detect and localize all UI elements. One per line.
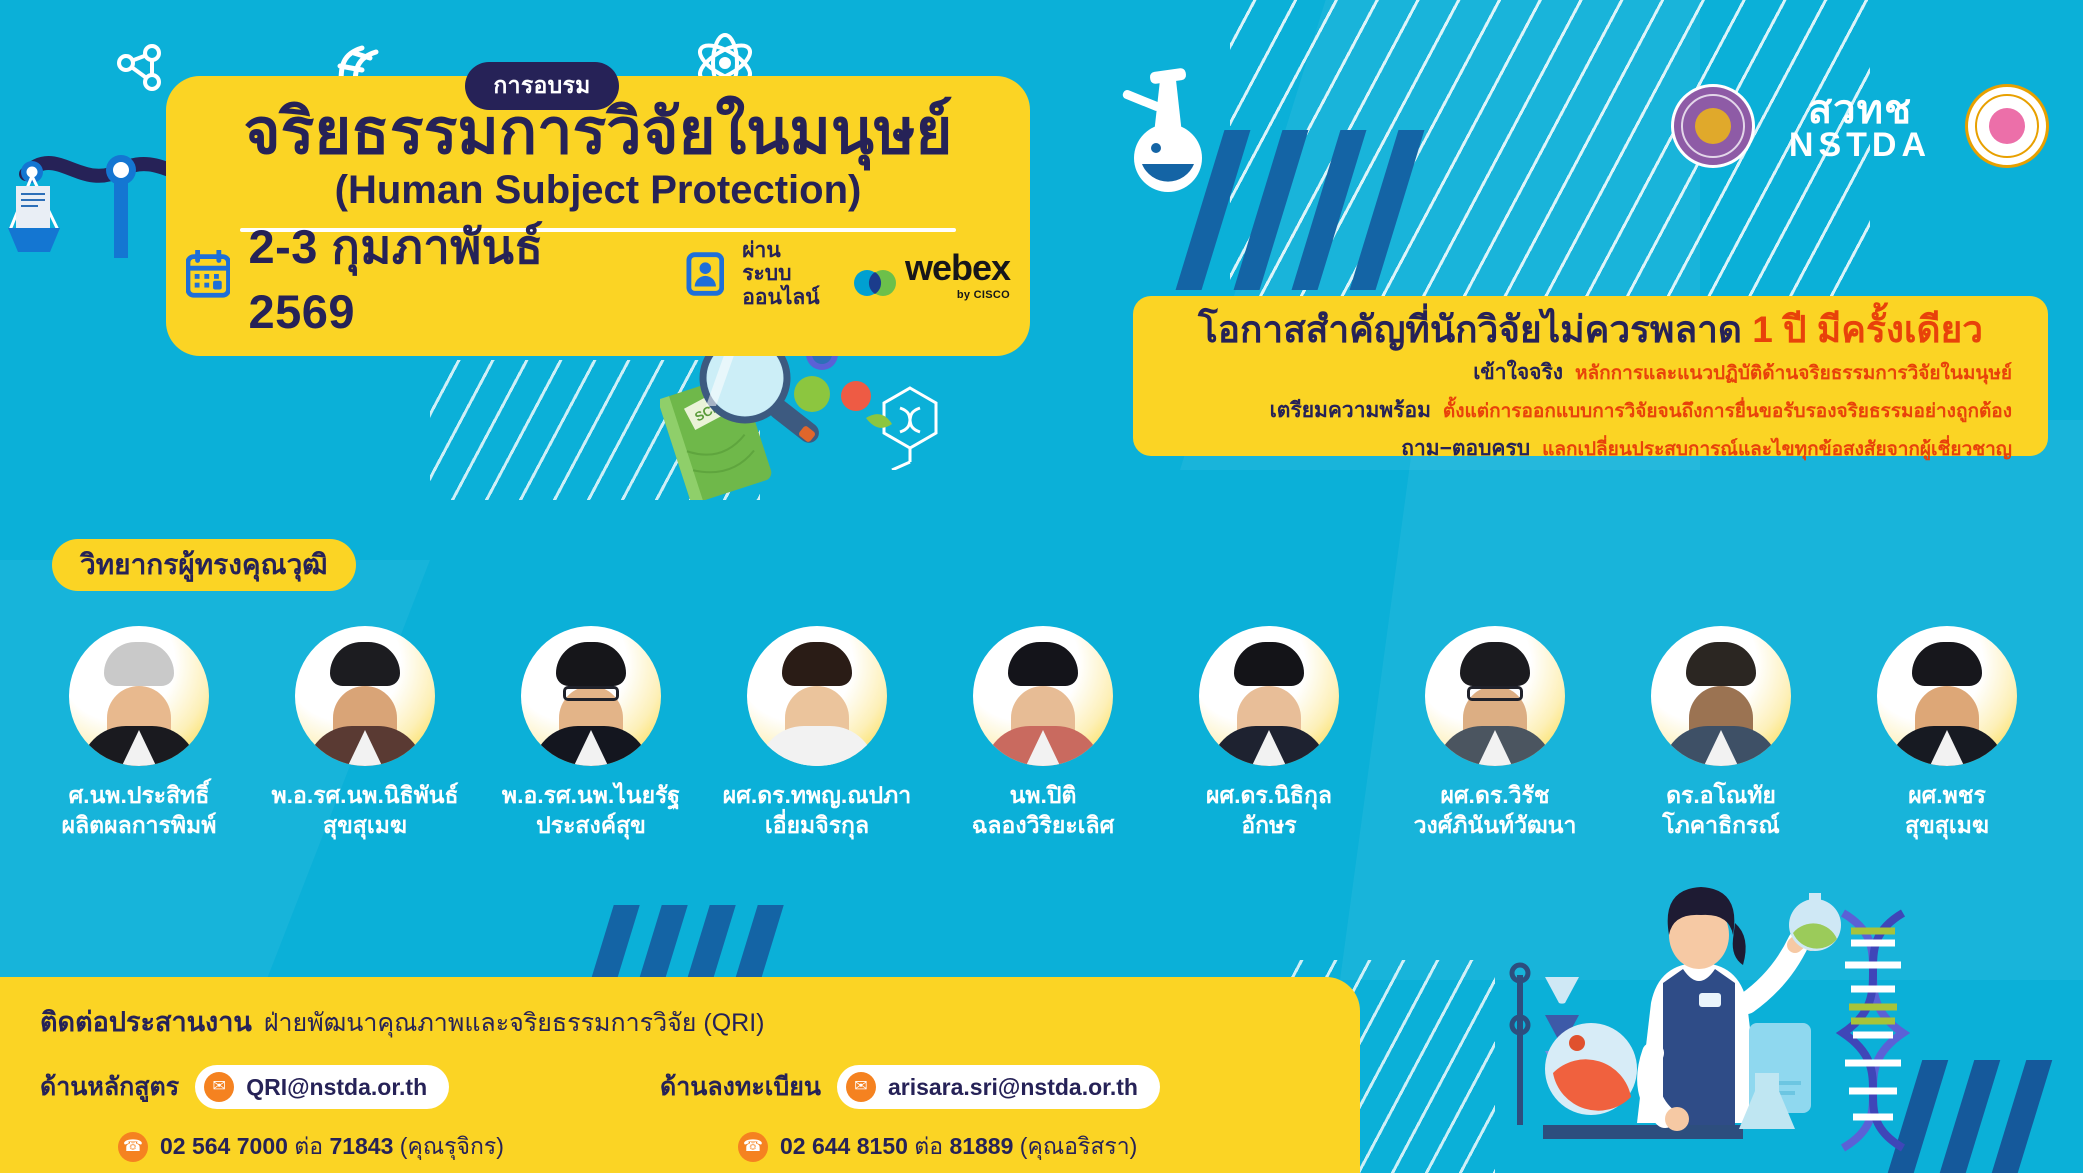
highlight-headline-accent: 1 ปี มีครั้งเดียว <box>1752 309 1983 350</box>
phramongkutklao-seal-icon <box>1671 84 1755 168</box>
speakers-label-text: วิทยากรผู้ทรงคุณวุฒิ <box>80 543 328 587</box>
register-contact-row: ด้านลงทะเบียน ✉ arisara.sri@nstda.or.th <box>660 1065 1360 1109</box>
course-email-text: QRI@nstda.or.th <box>246 1074 427 1101</box>
avatar-hair <box>104 642 174 686</box>
nstda-logo-thai: สวทช <box>1789 90 1931 130</box>
calendar-icon <box>186 250 230 298</box>
avatar-hair <box>1460 642 1530 686</box>
speaker-card: พ.อ.รศ.นพ.ไนยรัฐ ประสงค์สุข <box>478 626 704 916</box>
webex-logo-icon <box>853 265 897 301</box>
highlight-value: หลักการและแนวปฏิบัติด้านจริยธรรมการวิจัย… <box>1575 358 2012 388</box>
partner-logos: สวทช NSTDA <box>1671 84 2049 168</box>
speakers-section-label: วิทยากรผู้ทรงคุณวุฒิ <box>52 539 356 591</box>
speaker-name: ศ.นพ.ประสิทธิ์ ผลิตผลการพิมพ์ <box>62 780 217 841</box>
event-date: 2-3 กุมภาพันธ์ 2569 <box>248 209 649 339</box>
avatar-hair <box>1912 642 1982 686</box>
envelope-icon: ✉ <box>846 1072 876 1102</box>
course-phone-number-1: 02 564 7000 <box>160 1133 288 1159</box>
speaker-card: นพ.ปิติ ฉลองวิริยะเลิศ <box>930 626 1156 916</box>
speaker-card: พ.อ.รศ.นพ.นิธิพันธ์ สุขสุเมฆ <box>252 626 478 916</box>
register-phone-contact: (คุณอริสรา) <box>1013 1133 1137 1159</box>
register-phone-number: 02 644 8150 <box>780 1133 908 1159</box>
highlight-headline: โอกาสสำคัญที่นักวิจัยไม่ควรพลาด 1 ปี มีค… <box>1161 310 2020 351</box>
avatar-hair <box>330 642 400 686</box>
avatar <box>1425 626 1565 766</box>
course-phone-ext-1: 71843 <box>329 1133 393 1159</box>
online-label-line1: ผ่านระบบ <box>742 239 827 286</box>
avatar <box>521 626 661 766</box>
course-phone-contact-1: (คุณรุจิกร) <box>393 1133 504 1159</box>
poster-root: SCIENCE การอบรม จริยธรรมการวิจัยในมนุษย์… <box>0 0 2083 1173</box>
molecule-icon <box>110 38 170 98</box>
course-email-pill[interactable]: ✉ QRI@nstda.or.th <box>195 1065 449 1109</box>
highlight-key: เตรียมความพร้อม <box>1270 394 1431 427</box>
avatar-hair <box>1234 642 1304 686</box>
course-phone-row-1: ☎ 02 564 7000 ต่อ 71843 (คุณรุจิกร) <box>40 1129 660 1165</box>
page-title: จริยธรรมการวิจัยในมนุษย์ <box>166 100 1030 166</box>
highlight-line: ถาม−ตอบครบ แลกเปลี่ยนประสบการณ์และไขทุกข… <box>1161 432 2020 465</box>
avatar <box>1651 626 1791 766</box>
highlight-value: ตั้งแต่การออกแบบการวิจัยจนถึงการยื่นขอรั… <box>1443 396 2012 426</box>
contact-heading-value: ฝ่ายพัฒนาคุณภาพและจริยธรรมการวิจัย (QRI) <box>264 1003 765 1043</box>
highlight-panel: โอกาสสำคัญที่นักวิจัยไม่ควรพลาด 1 ปี มีค… <box>1133 296 2048 456</box>
register-email-text: arisara.sri@nstda.or.th <box>888 1074 1138 1101</box>
avatar-hair <box>782 642 852 686</box>
contact-column-register: ด้านลงทะเบียน ✉ arisara.sri@nstda.or.th … <box>660 1065 1360 1173</box>
register-email-pill[interactable]: ✉ arisara.sri@nstda.or.th <box>837 1065 1160 1109</box>
course-contact-row: ด้านหลักสูตร ✉ QRI@nstda.or.th <box>40 1065 660 1109</box>
course-phone-ext-label-1: ต่อ <box>288 1133 330 1159</box>
envelope-icon: ✉ <box>204 1072 234 1102</box>
speaker-name: ผศ.ดร.นิธิกุล อักษร <box>1206 780 1332 841</box>
contact-column-course: ด้านหลักสูตร ✉ QRI@nstda.or.th ☎ 02 564 … <box>40 1065 660 1173</box>
highlight-key: ถาม−ตอบครบ <box>1401 432 1530 465</box>
speaker-name: ผศ.พชร สุขสุเมฆ <box>1905 780 1989 841</box>
avatar <box>295 626 435 766</box>
webex-logo: webex by CISCO <box>853 247 1010 301</box>
course-phone-text-1: 02 564 7000 ต่อ 71843 (คุณรุจิกร) <box>160 1129 504 1165</box>
phone-icon: ☎ <box>738 1132 768 1162</box>
register-phone-ext-label: ต่อ <box>908 1133 950 1159</box>
phone-icon: ☎ <box>118 1132 148 1162</box>
register-contact-label: ด้านลงทะเบียน <box>660 1067 821 1107</box>
webex-wordmark: webex <box>905 247 1010 289</box>
highlight-headline-main: โอกาสสำคัญที่นักวิจัยไม่ควรพลาด <box>1198 309 1742 350</box>
webex-byline: by CISCO <box>905 289 1010 301</box>
register-phone-text: 02 644 8150 ต่อ 81889 (คุณอริสรา) <box>780 1129 1137 1165</box>
event-meta-row: 2-3 กุมภาพันธ์ 2569 ผ่านระบบ ออนไลน์ web… <box>186 238 1010 310</box>
register-phone-row: ☎ 02 644 8150 ต่อ 81889 (คุณอริสรา) <box>660 1129 1360 1165</box>
nstda-logo-en: NSTDA <box>1789 128 1931 162</box>
course-contact-label: ด้านหลักสูตร <box>40 1067 179 1107</box>
highlight-line: เตรียมความพร้อม ตั้งแต่การออกแบบการวิจัย… <box>1161 394 2020 427</box>
speaker-name: นพ.ปิติ ฉลองวิริยะเลิศ <box>972 780 1114 841</box>
avatar-hair <box>1686 642 1756 686</box>
contact-columns: ด้านหลักสูตร ✉ QRI@nstda.or.th ☎ 02 564 … <box>40 1065 1360 1173</box>
online-label: ผ่านระบบ ออนไลน์ <box>742 239 827 310</box>
speakers-row: ศ.นพ.ประสิทธิ์ ผลิตผลการพิมพ์พ.อ.รศ.นพ.น… <box>26 626 2066 916</box>
lab-flask-icon <box>1120 60 1230 200</box>
speaker-card: ผศ.พชร สุขสุเมฆ <box>1834 626 2060 916</box>
footer-content: ติดต่อประสานงาน ฝ่ายพัฒนาคุณภาพและจริยธร… <box>40 1000 1360 1173</box>
speaker-card: ผศ.ดร.ทพญ.ณปภา เอี่ยมจิรกุล <box>704 626 930 916</box>
contact-heading: ติดต่อประสานงาน ฝ่ายพัฒนาคุณภาพและจริยธร… <box>40 1000 1360 1043</box>
tilted-bars-top <box>1200 130 1420 290</box>
speaker-name: ดร.อโณทัย โภคาธิกรณ์ <box>1662 780 1779 841</box>
avatar-glasses <box>1467 686 1523 701</box>
speaker-card: ผศ.ดร.นิธิกุล อักษร <box>1156 626 1382 916</box>
avatar-hair <box>1008 642 1078 686</box>
speaker-name: ผศ.ดร.วิรัช วงศ์ภินันท์วัฒนา <box>1414 780 1577 841</box>
speaker-card: ผศ.ดร.วิรัช วงศ์ภินันท์วัฒนา <box>1382 626 1608 916</box>
highlight-value: แลกเปลี่ยนประสบการณ์และไขทุกข้อสงสัยจากผ… <box>1542 434 2012 464</box>
avatar <box>69 626 209 766</box>
speaker-name: พ.อ.รศ.นพ.นิธิพันธ์ สุขสุเมฆ <box>271 780 458 841</box>
online-person-icon <box>686 251 725 297</box>
scientist-illustration <box>1503 873 1963 1173</box>
nstda-logo: สวทช NSTDA <box>1789 90 1931 162</box>
avatar-hair <box>556 642 626 686</box>
speaker-card: ดร.อโณทัย โภคาธิกรณ์ <box>1608 626 1834 916</box>
avatar <box>973 626 1113 766</box>
online-label-line2: ออนไลน์ <box>742 286 827 310</box>
register-phone-ext: 81889 <box>949 1133 1013 1159</box>
avatar <box>1877 626 2017 766</box>
speaker-card: ศ.นพ.ประสิทธิ์ ผลิตผลการพิมพ์ <box>26 626 252 916</box>
contact-heading-label: ติดต่อประสานงาน <box>40 1000 252 1043</box>
institute-seal-icon <box>1965 84 2049 168</box>
avatar <box>747 626 887 766</box>
highlight-key: เข้าใจจริง <box>1473 356 1563 389</box>
speaker-name: พ.อ.รศ.นพ.ไนยรัฐ ประสงค์สุข <box>502 780 680 841</box>
avatar-glasses <box>563 686 619 701</box>
highlight-line: เข้าใจจริง หลักการและแนวปฏิบัติด้านจริยธ… <box>1161 356 2020 389</box>
avatar <box>1199 626 1339 766</box>
page-subtitle: (Human Subject Protection) <box>166 168 1030 212</box>
speaker-name: ผศ.ดร.ทพญ.ณปภา เอี่ยมจิรกุล <box>723 780 911 841</box>
